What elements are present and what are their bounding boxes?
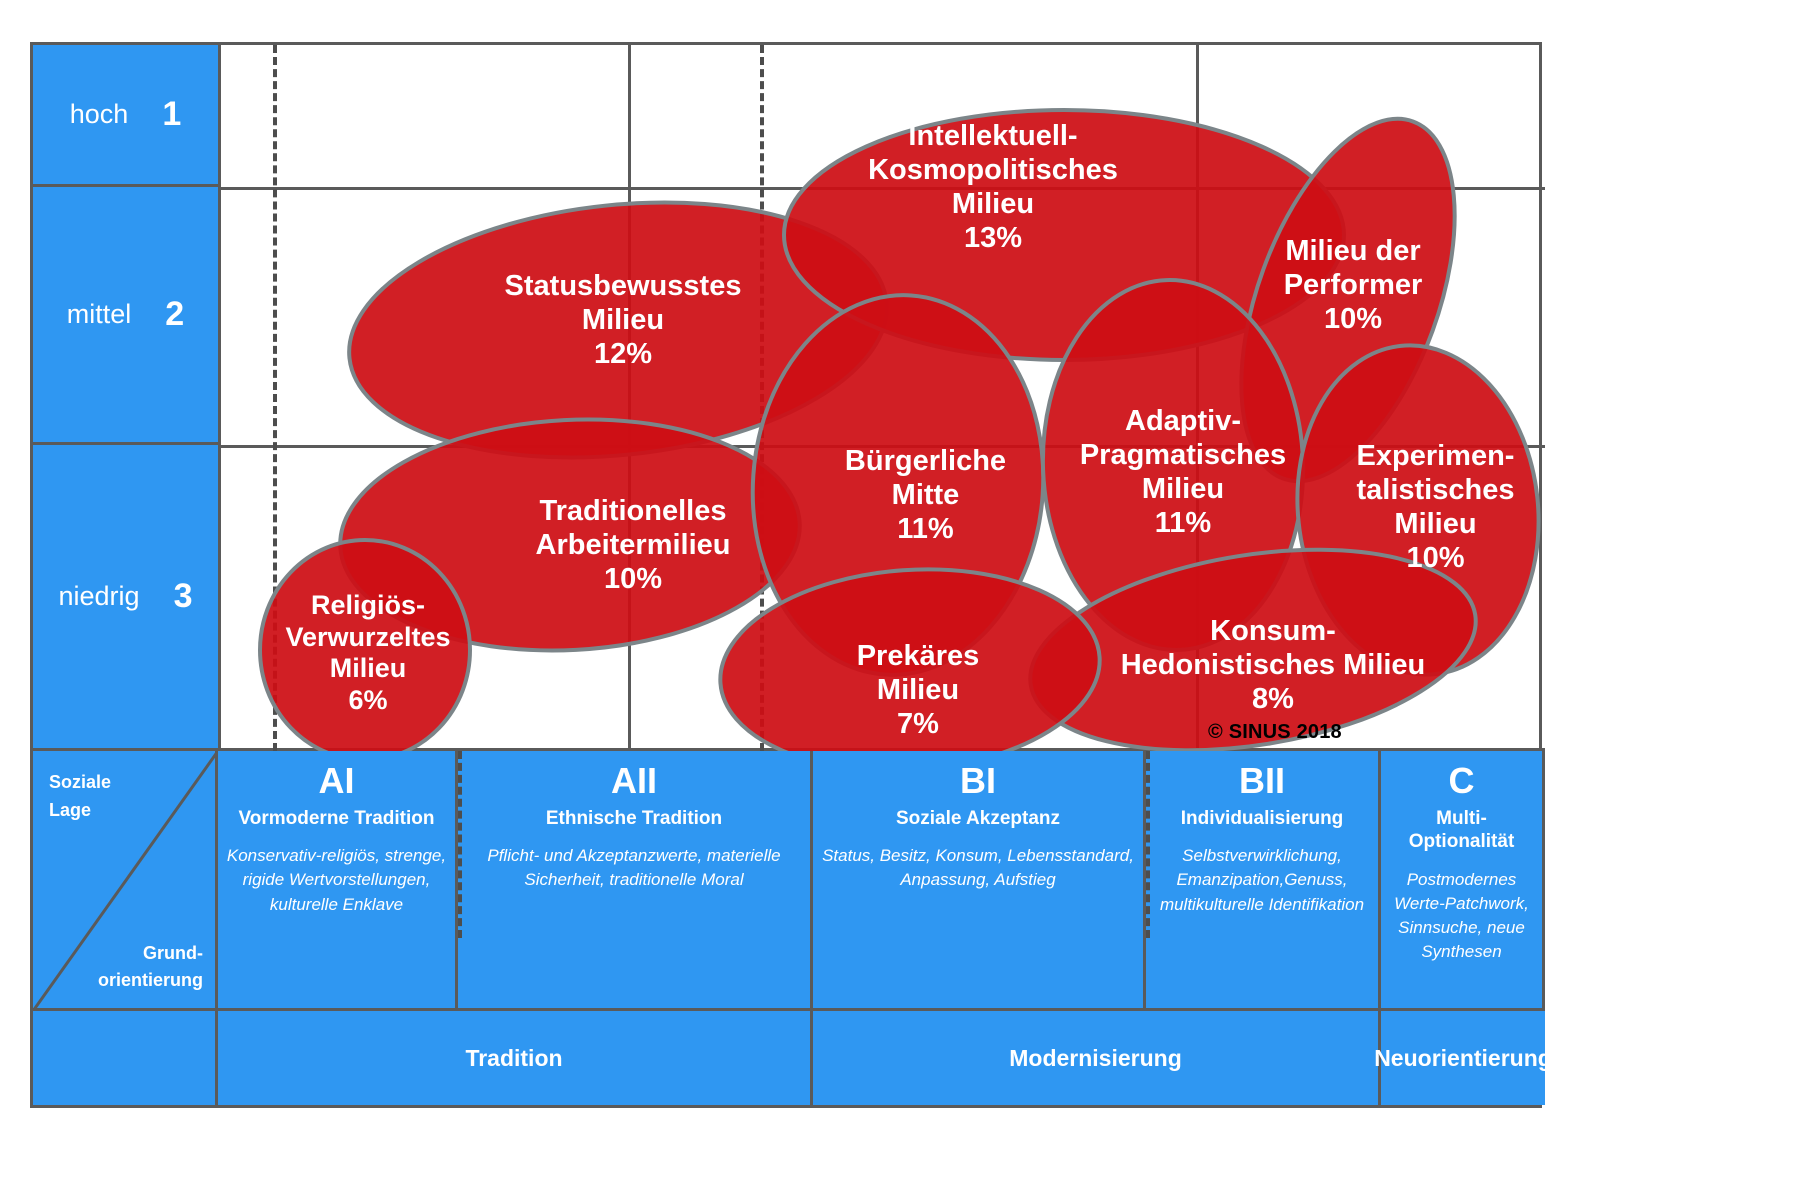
column-name-aii: Ethnische Tradition bbox=[458, 807, 810, 831]
column-name-bii: Individualisierung bbox=[1146, 807, 1378, 831]
column-name-bi: Soziale Akzeptanz bbox=[813, 807, 1143, 831]
milieu-bubble-field bbox=[218, 45, 1545, 751]
strata-number-1: 1 bbox=[162, 95, 181, 134]
strata-row-mittel: mittel 2 bbox=[33, 187, 218, 445]
strata-row-niedrig: niedrig 3 bbox=[33, 445, 218, 751]
orientation-column-bii: BII Individualisierung Selbstverwirklich… bbox=[1146, 751, 1381, 1011]
column-desc-ai: Konservativ-religiös, strenge, rigide We… bbox=[218, 844, 455, 916]
orientation-axis: SozialeLage Grund-orientierung AI Vormod… bbox=[33, 751, 1545, 1108]
band-spacer bbox=[33, 1011, 218, 1105]
column-code-ai: AI bbox=[218, 761, 455, 801]
column-desc-bii: Selbstverwirklichung, Emanzipation,Genus… bbox=[1146, 844, 1378, 916]
column-desc-aii: Pflicht- und Akzeptanzwerte, materielle … bbox=[458, 844, 810, 892]
band-modernisierung: Modernisierung bbox=[813, 1011, 1381, 1105]
column-desc-bi: Status, Besitz, Konsum, Lebensstandard, … bbox=[813, 844, 1143, 892]
orientation-column-aii: AII Ethnische Tradition Pflicht- und Akz… bbox=[458, 751, 813, 1011]
strata-label-niedrig: niedrig bbox=[59, 581, 140, 612]
column-code-bi: BI bbox=[813, 761, 1143, 801]
column-code-aii: AII bbox=[458, 761, 810, 801]
column-code-c: C bbox=[1381, 761, 1542, 801]
orientation-column-bi: BI Soziale Akzeptanz Status, Besitz, Kon… bbox=[813, 751, 1146, 1011]
strata-row-hoch: hoch 1 bbox=[33, 45, 218, 187]
column-name-ai: Vormoderne Tradition bbox=[218, 807, 455, 831]
band-tradition: Tradition bbox=[218, 1011, 813, 1105]
orientation-column-c: C Multi-Optionalität Postmodernes Werte-… bbox=[1381, 751, 1545, 1011]
band-neuorientierung: Neuorientierung bbox=[1381, 1011, 1545, 1105]
strata-label-mittel: mittel bbox=[67, 299, 132, 330]
bubble-religioes-verwurzeltes bbox=[260, 540, 470, 751]
strata-label-hoch: hoch bbox=[70, 99, 129, 130]
copyright-notice: © SINUS 2018 bbox=[1208, 721, 1342, 744]
column-desc-c: Postmodernes Werte-Patchwork, Sinnsuche,… bbox=[1381, 868, 1542, 965]
axis-title-grundorientierung: Grund-orientierung bbox=[98, 940, 203, 994]
strata-number-3: 3 bbox=[174, 577, 193, 616]
column-code-bii: BII bbox=[1146, 761, 1378, 801]
strata-number-2: 2 bbox=[165, 295, 184, 334]
axis-title-soziale-lage: SozialeLage bbox=[49, 769, 111, 825]
sinus-milieus-diagram: hoch 1 mittel 2 niedrig 3 bbox=[0, 0, 1800, 1200]
orientation-column-ai: AI Vormoderne Tradition Konservativ-reli… bbox=[218, 751, 458, 1011]
column-name-c: Multi-Optionalität bbox=[1381, 807, 1542, 855]
diagram-frame: hoch 1 mittel 2 niedrig 3 bbox=[30, 42, 1542, 1108]
axis-corner-cell: SozialeLage Grund-orientierung bbox=[33, 751, 218, 1011]
footer-dashed-1 bbox=[458, 751, 462, 938]
social-strata-axis: hoch 1 mittel 2 niedrig 3 bbox=[33, 45, 218, 751]
footer-dashed-2 bbox=[1146, 751, 1150, 938]
